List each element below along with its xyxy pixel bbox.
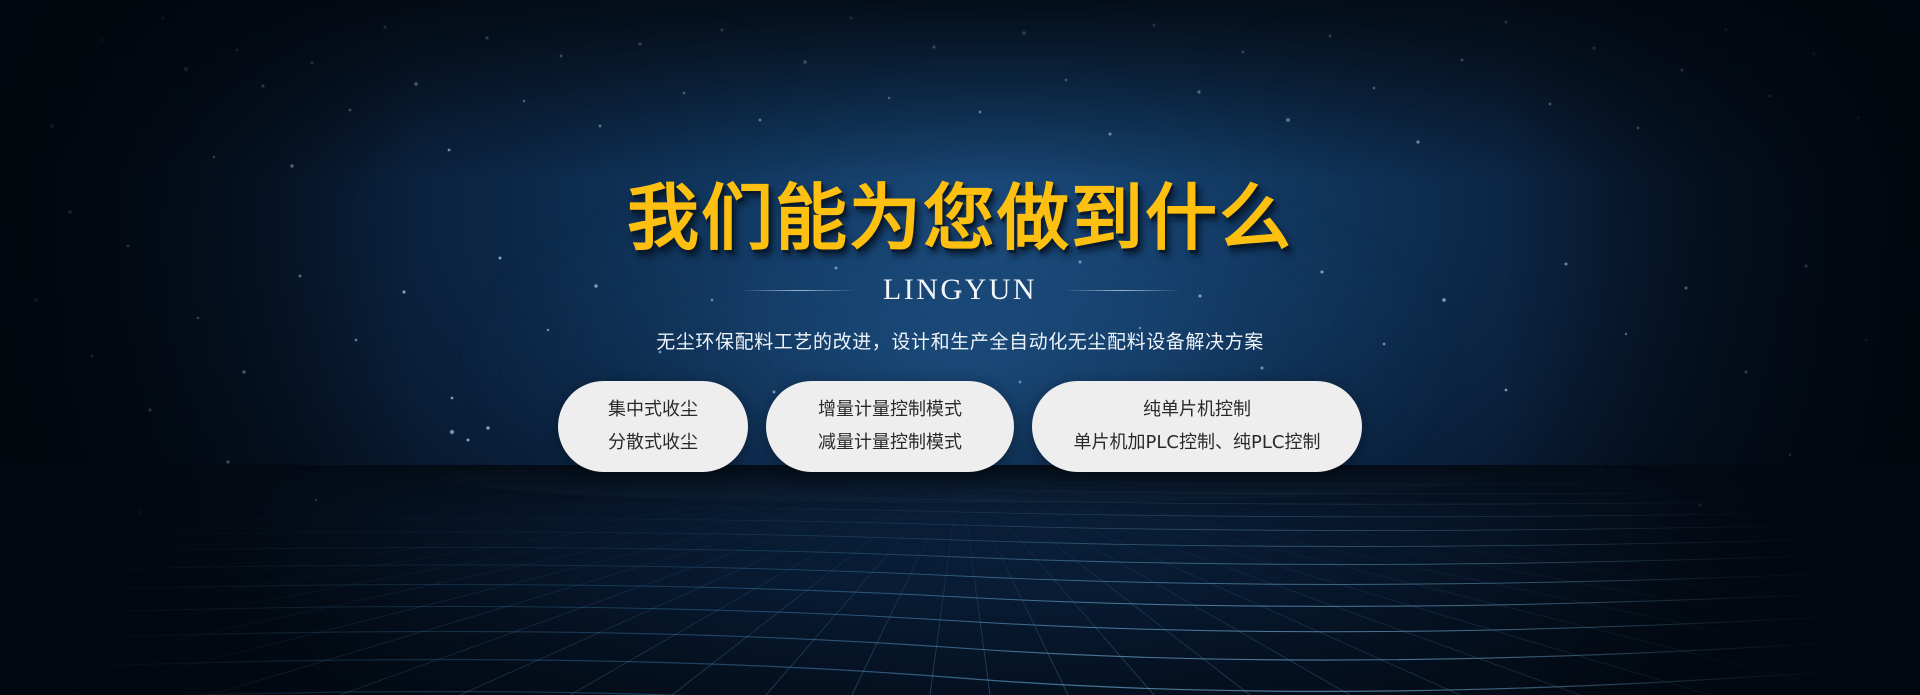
feature-pill-control-system[interactable]: 纯单片机控制 单片机加PLC控制、纯PLC控制 (1032, 381, 1362, 472)
hero-content: 我们能为您做到什么 LINGYUN 无尘环保配料工艺的改进，设计和生产全自动化无… (0, 0, 1920, 472)
pill-line-2: 单片机加PLC控制、纯PLC控制 (1074, 433, 1321, 454)
brand-name: LINGYUN (883, 273, 1037, 307)
divider-line-left (743, 290, 853, 291)
pill-line-1: 纯单片机控制 (1143, 400, 1251, 421)
hero-banner: 我们能为您做到什么 LINGYUN 无尘环保配料工艺的改进，设计和生产全自动化无… (0, 0, 1920, 695)
pill-line-1: 集中式收尘 (608, 400, 698, 421)
tagline: 无尘环保配料工艺的改进，设计和生产全自动化无尘配料设备解决方案 (0, 327, 1920, 354)
pill-line-2: 减量计量控制模式 (818, 433, 962, 454)
brand-divider-row: LINGYUN (0, 273, 1920, 307)
feature-pill-dust-collection[interactable]: 集中式收尘 分散式收尘 (558, 381, 748, 472)
pill-line-1: 增量计量控制模式 (818, 400, 962, 421)
divider-line-right (1067, 290, 1177, 291)
pill-line-2: 分散式收尘 (608, 433, 698, 454)
page-title: 我们能为您做到什么 (0, 0, 1920, 254)
feature-pill-row: 集中式收尘 分散式收尘 增量计量控制模式 减量计量控制模式 纯单片机控制 单片机… (0, 381, 1920, 472)
feature-pill-metering-mode[interactable]: 增量计量控制模式 减量计量控制模式 (766, 381, 1014, 472)
